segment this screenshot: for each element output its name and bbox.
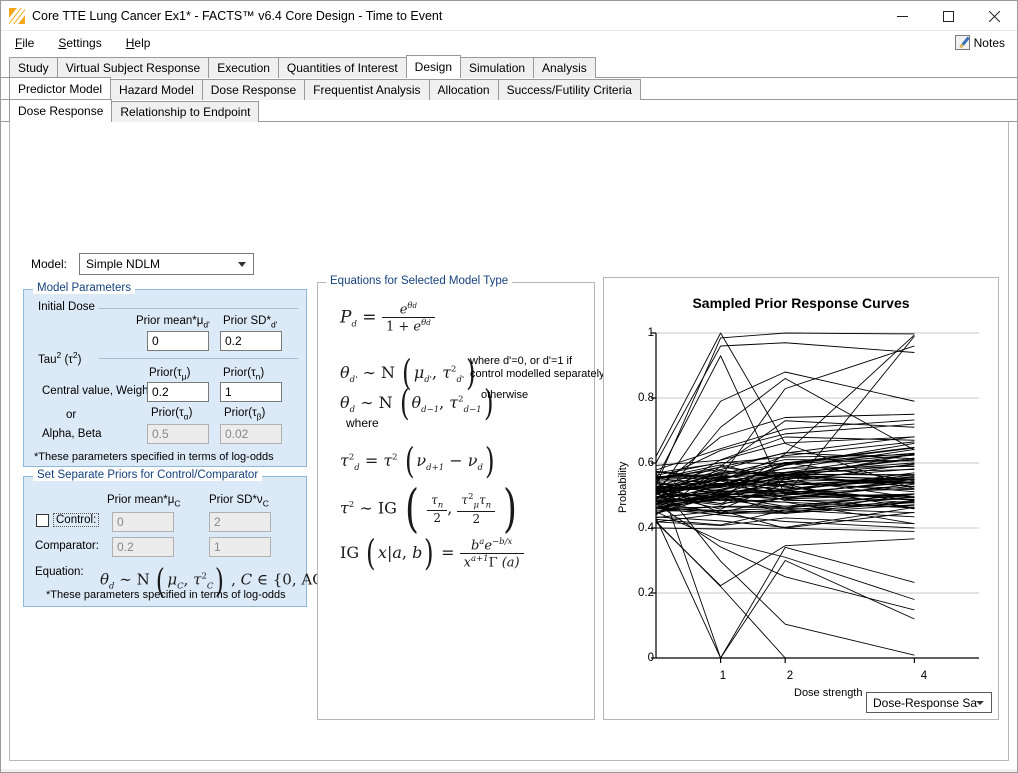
equation-note-otherwise: otherwise xyxy=(481,389,528,402)
separate-priors-group: Set Separate Priors for Control/Comparat… xyxy=(23,476,307,607)
model-parameters-group: Model Parameters Initial Dose Prior mean… xyxy=(23,289,307,467)
prior-tau-mu-header: Prior(τμ) xyxy=(149,367,190,381)
comparator-prior-mean-input[interactable]: 0.2 xyxy=(112,537,174,557)
tau-alpha-input[interactable]: 0.5 xyxy=(147,424,209,444)
tab-allocation[interactable]: Allocation xyxy=(429,79,499,100)
equation-tau-squared-ig: τ2 ∼ IG ( τn2, τ2μτn2 ) xyxy=(340,479,520,539)
model-parameters-title: Model Parameters xyxy=(33,282,135,294)
central-value-weight-label: Central value, Weight xyxy=(42,385,152,397)
control-prior-sd-input[interactable]: 2 xyxy=(209,512,271,532)
close-button[interactable] xyxy=(971,1,1017,31)
maximize-button[interactable] xyxy=(925,1,971,31)
equation-ig-density: IG (x|a, b) = bae−b/x xa+1Γ (a) xyxy=(340,533,524,574)
tab-analysis[interactable]: Analysis xyxy=(533,57,596,78)
model-label: Model: xyxy=(31,257,67,271)
tau-beta-input[interactable]: 0.02 xyxy=(220,424,282,444)
initial-dose-prior-sd-input[interactable]: 0.2 xyxy=(220,331,282,351)
model-select-value: Simple NDLM xyxy=(86,257,160,271)
tab-simulation[interactable]: Simulation xyxy=(460,57,534,78)
comparator-prior-sd-input[interactable]: 1 xyxy=(209,537,271,557)
control-prior-sd-header: Prior SD*νC xyxy=(209,494,269,508)
equation-logistic: Pd = eθd 1 + eθd xyxy=(340,301,435,335)
equations-group: Equations for Selected Model Type Pd = e… xyxy=(317,282,595,720)
tab-relationship-to-endpoint[interactable]: Relationship to Endpoint xyxy=(111,101,259,122)
tau-mu-input[interactable]: 0.2 xyxy=(147,382,209,402)
notes-button[interactable]: Notes xyxy=(951,33,1009,52)
tab-dose-response-sub[interactable]: Dose Response xyxy=(9,99,112,122)
tau2-divider xyxy=(99,358,298,359)
tab-dose-response[interactable]: Dose Response xyxy=(202,79,305,100)
or-label: or xyxy=(66,409,76,421)
comparator-label: Comparator: xyxy=(35,540,99,552)
equation-tau-d-squared: τ2d = τ2 (νd+1 − νd) xyxy=(340,441,497,482)
tab-success-futility-criteria[interactable]: Success/Futility Criteria xyxy=(498,79,641,100)
initial-dose-prior-mean-input[interactable]: 0 xyxy=(147,331,209,351)
tau-n-input[interactable]: 1 xyxy=(220,382,282,402)
control-prior-mean-input[interactable]: 0 xyxy=(112,512,174,532)
tab-study[interactable]: Study xyxy=(9,57,58,78)
tab-predictor-model[interactable]: Predictor Model xyxy=(9,77,111,100)
tab-design[interactable]: Design xyxy=(406,55,461,78)
tertiary-tab-bar: Dose Response Relationship to Endpoint xyxy=(1,100,1017,122)
equations-where-label: where xyxy=(346,417,379,430)
notes-label: Notes xyxy=(974,36,1005,50)
menu-file[interactable]: File xyxy=(5,33,44,53)
tab-quantities-of-interest[interactable]: Quantities of Interest xyxy=(278,57,407,78)
equation-label: Equation: xyxy=(35,566,84,578)
title-bar: Core TTE Lung Cancer Ex1* - FACTS™ v6.4 … xyxy=(1,1,1017,31)
tab-frequentist-analysis[interactable]: Frequentist Analysis xyxy=(304,79,429,100)
application-window: Core TTE Lung Cancer Ex1* - FACTS™ v6.4 … xyxy=(0,0,1018,773)
menu-settings[interactable]: Settings xyxy=(48,33,111,53)
control-checkbox[interactable] xyxy=(36,514,49,527)
separate-priors-title: Set Separate Priors for Control/Comparat… xyxy=(33,469,262,481)
alpha-beta-label: Alpha, Beta xyxy=(42,428,101,440)
control-prior-mean-header: Prior mean*μC xyxy=(107,494,180,508)
equation-note-dprime: where d'=0, or d'=1 if control modelled … xyxy=(470,355,605,380)
content-area: Model: Simple NDLM Model Parameters Init… xyxy=(1,122,1017,769)
model-parameters-footnote: *These parameters specified in terms of … xyxy=(34,451,274,463)
separate-priors-footnote: *These parameters specified in terms of … xyxy=(46,589,286,601)
menu-bar: File Settings Help Notes xyxy=(1,31,1017,55)
tab-virtual-subject-response[interactable]: Virtual Subject Response xyxy=(57,57,210,78)
prior-sd-header: Prior SD*d' xyxy=(223,315,277,329)
minimize-button[interactable] xyxy=(879,1,925,31)
initial-dose-legend: Initial Dose xyxy=(34,301,99,313)
chevron-down-icon xyxy=(238,262,246,267)
tab-hazard-model[interactable]: Hazard Model xyxy=(110,79,203,100)
window-title: Core TTE Lung Cancer Ex1* - FACTS™ v6.4 … xyxy=(32,9,442,23)
tau2-legend: Tau2 (τ2) xyxy=(34,350,85,366)
chart-plot-area xyxy=(604,278,1000,721)
primary-tab-bar: Study Virtual Subject Response Execution… xyxy=(1,55,1017,78)
menu-help[interactable]: Help xyxy=(116,33,161,53)
control-label: Control: xyxy=(53,513,99,527)
window-controls xyxy=(879,1,1017,31)
facts-app-icon xyxy=(9,8,25,24)
prior-tau-alpha-header: Prior(τα) xyxy=(151,407,192,421)
prior-tau-beta-header: Prior(τβ) xyxy=(224,407,265,421)
tab-execution[interactable]: Execution xyxy=(208,57,279,78)
notes-icon xyxy=(955,35,970,50)
chart-view-value: Dose-Response Sa xyxy=(873,696,977,710)
prior-mean-header: Prior mean*μd' xyxy=(136,315,210,329)
chevron-down-icon xyxy=(976,701,984,705)
chart-panel: Sampled Prior Response Curves Probabilit… xyxy=(603,277,999,720)
secondary-tab-bar: Predictor Model Hazard Model Dose Respon… xyxy=(1,78,1017,100)
chart-view-select[interactable]: Dose-Response Sa xyxy=(866,692,992,713)
model-row: Model: Simple NDLM xyxy=(31,253,254,275)
model-select[interactable]: Simple NDLM xyxy=(79,253,254,275)
equations-title: Equations for Selected Model Type xyxy=(326,275,512,287)
prior-tau-n-header: Prior(τn) xyxy=(223,367,264,381)
